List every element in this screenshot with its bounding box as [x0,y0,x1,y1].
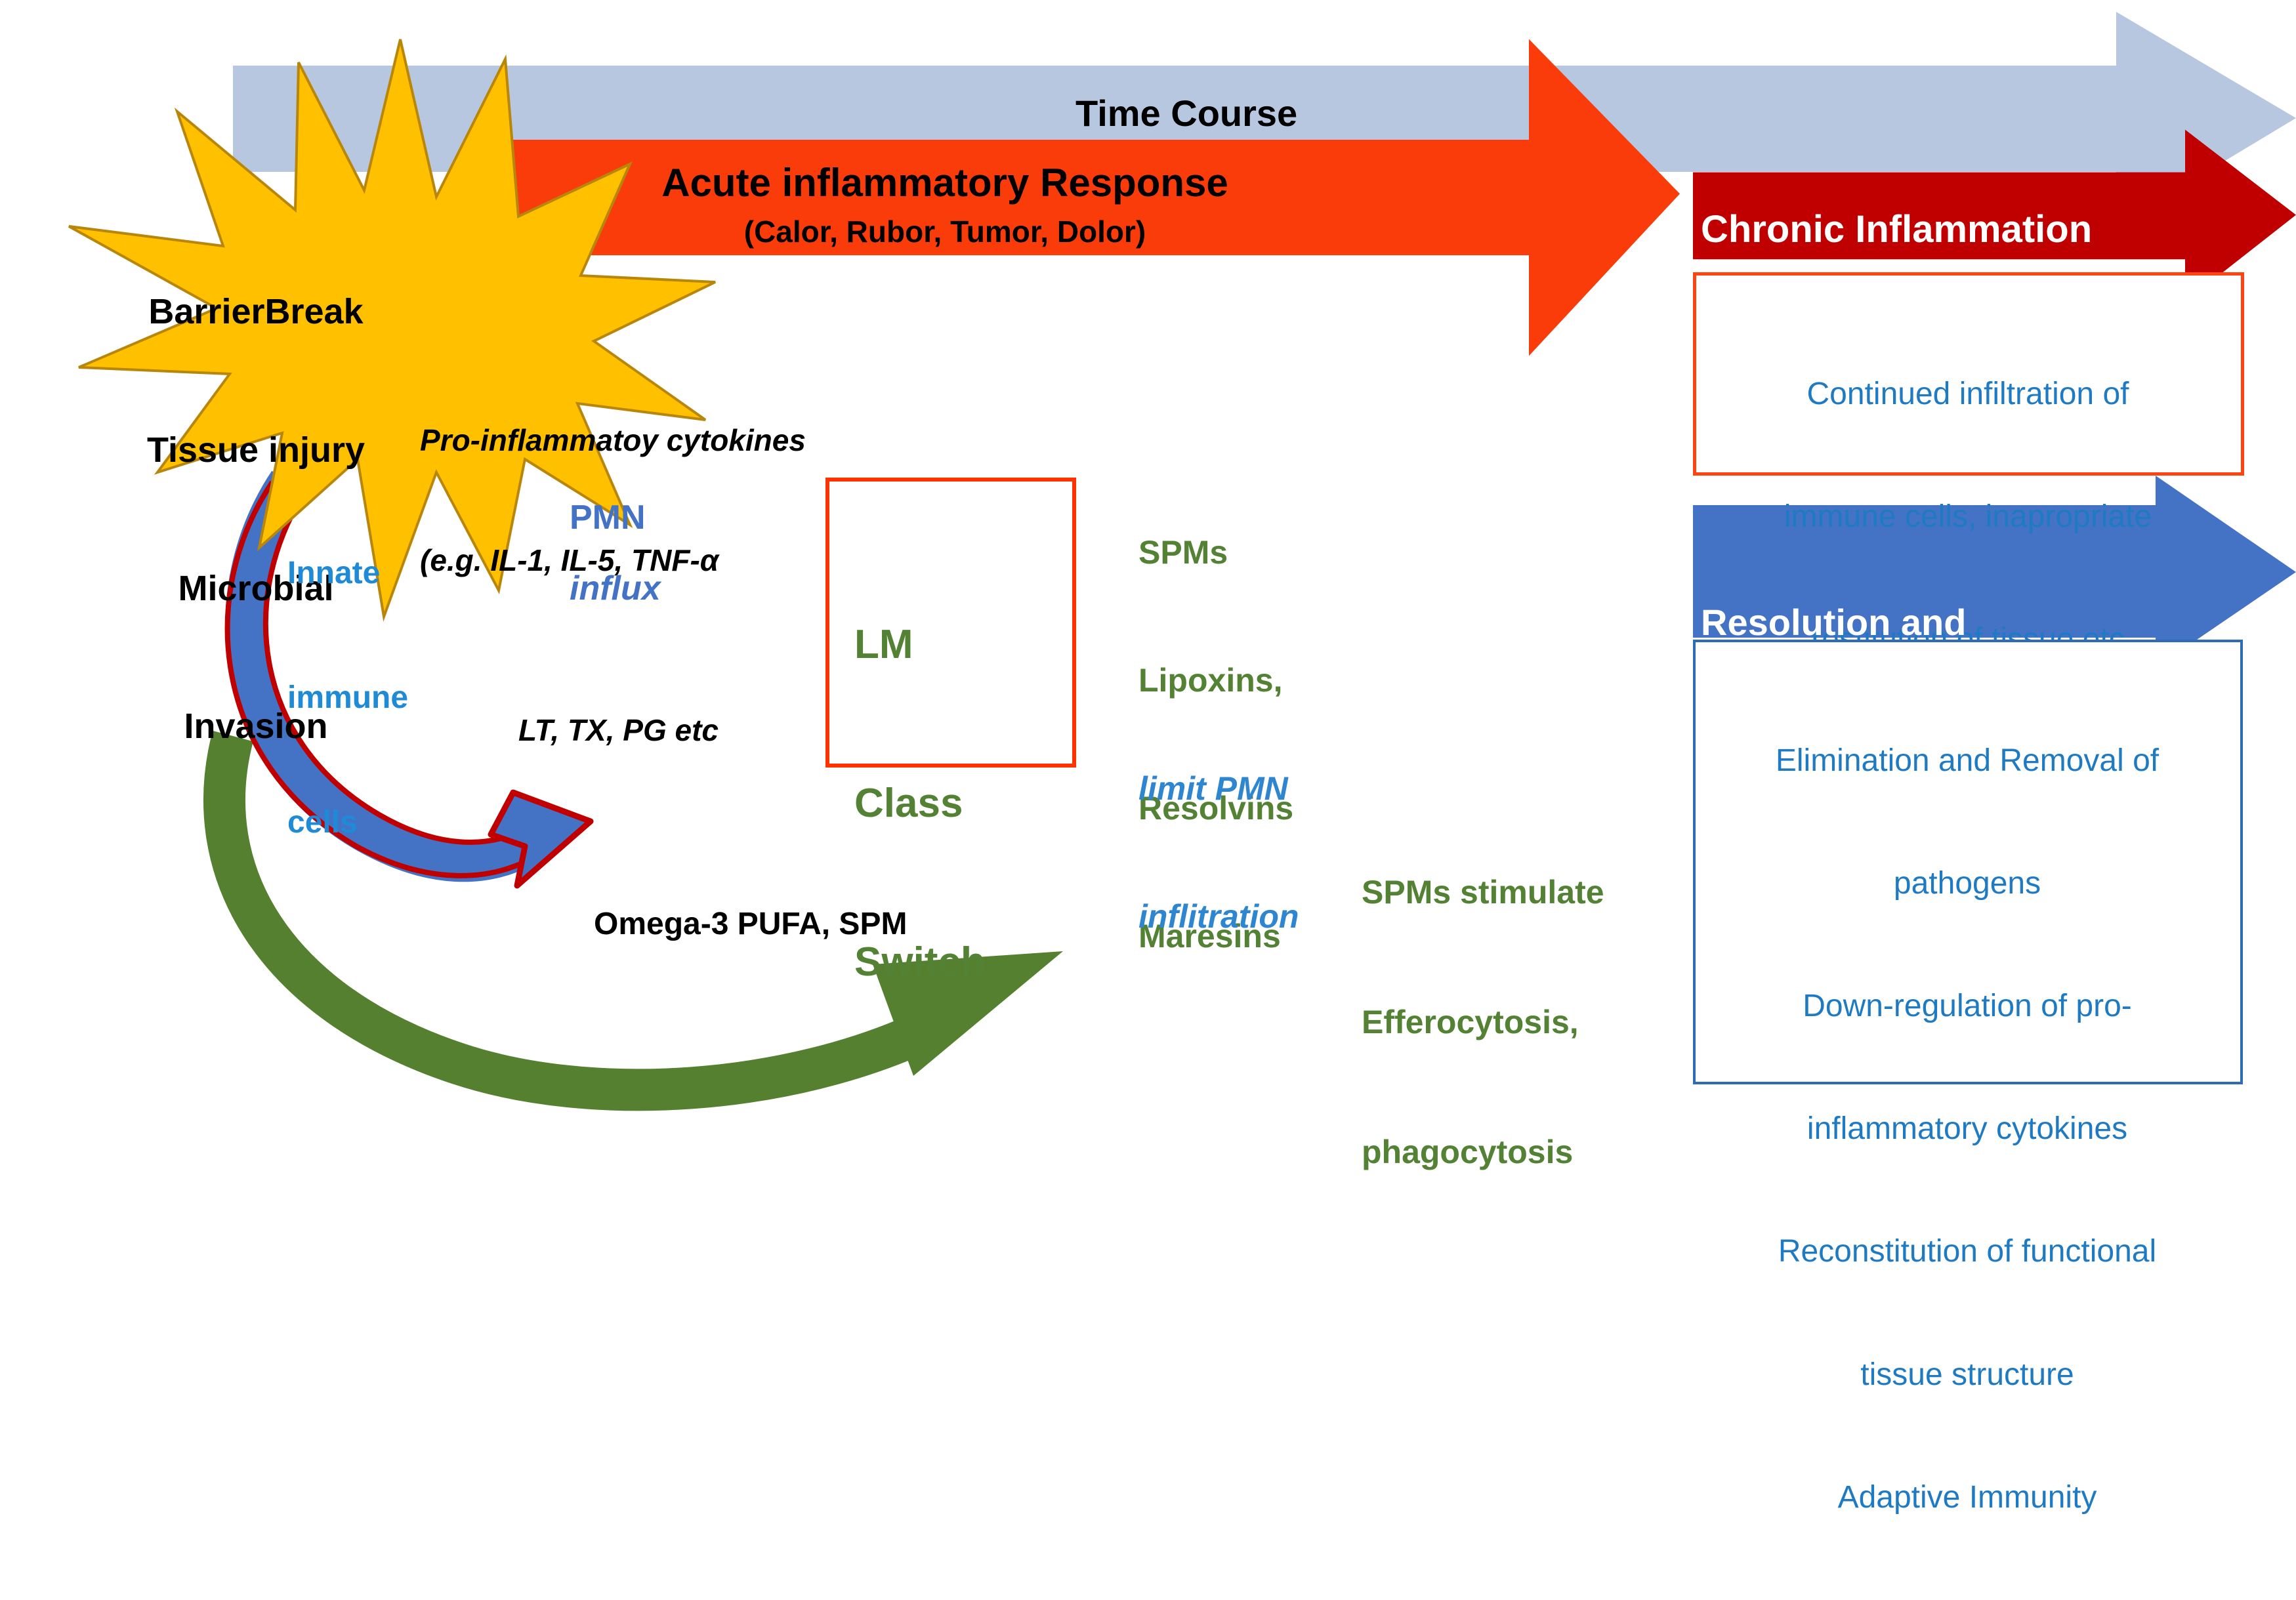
spm-stim-line-2: Efferocytosis, [1362,1000,1604,1044]
innate-immune-cells-label: Innate immune cells [287,469,408,926]
spm-italic-line-2: inflitration [1138,895,1299,938]
pmn-label: PMN [570,499,646,537]
spm-italic-line-1: limit PMN [1138,768,1299,810]
acute-response-title: Acute inflammatory Response [545,161,1345,205]
lipid-mediators-label: LT, TX, PG etc [518,714,719,748]
innate-line-3: cells [287,802,408,843]
resolution-body-line-3: Down-regulation of pro- [1705,986,2230,1027]
resolution-body-line-1: Elimination and Removal of [1705,741,2230,781]
diagram-canvas: BarrierBreak Tissue injury Microbial Inv… [0,0,2296,1108]
resolution-body-line-5: Reconstitution of functional [1705,1231,2230,1272]
lm-line-2: Class [854,777,986,831]
chronic-inflammation-body-box: Continued infiltration of immune cells, … [1693,272,2244,476]
star-line-1: BarrierBreak [118,289,394,335]
resolution-body-line-7: Adaptive Immunity [1705,1477,2230,1518]
cytokines-line-1: Pro-inflammatoy cytokines [420,421,806,461]
acute-response-subtitle: (Calor, Rubor, Tumor, Dolor) [545,215,1345,249]
spm-stimulate-note: SPMs stimulate Efferocytosis, phagocytos… [1362,784,1604,1260]
resolution-body-line-6: tissue structure [1705,1355,2230,1395]
star-line-2: Tissue injury [118,427,394,473]
resolution-title-line-1: Resolution and [1701,600,1966,645]
lm-line-3: Switch [854,936,986,989]
spm-stim-line-3: phagocytosis [1362,1130,1604,1174]
resolution-body-text: Elimination and Removal of pathogens Dow… [1705,659,2230,1600]
lm-line-1: LM [854,619,986,672]
spm-line-1: SPMs [1138,531,1293,574]
spm-stim-line-1: SPMs stimulate [1362,871,1604,914]
time-course-label: Time Course [1075,93,1297,134]
resolution-body-line-4: inflammatory cytokines [1705,1109,2230,1149]
innate-line-2: immune [287,677,408,718]
chronic-inflammation-title: Chronic Inflammation [1701,209,2092,251]
spm-limit-pmn-note: limit PMN inflitration [1138,682,1299,1023]
innate-line-1: Innate [287,552,408,594]
lm-class-switch-box: LM Class Switch [825,478,1076,768]
chronic-body-line-1: Continued infiltration of [1705,374,2230,415]
pmn-influx-label: influx [570,569,661,607]
lm-class-switch-label: LM Class Switch [854,513,986,1095]
resolution-body-line-2: pathogens [1705,863,2230,904]
resolution-body-box: Elimination and Removal of pathogens Dow… [1693,640,2243,1084]
